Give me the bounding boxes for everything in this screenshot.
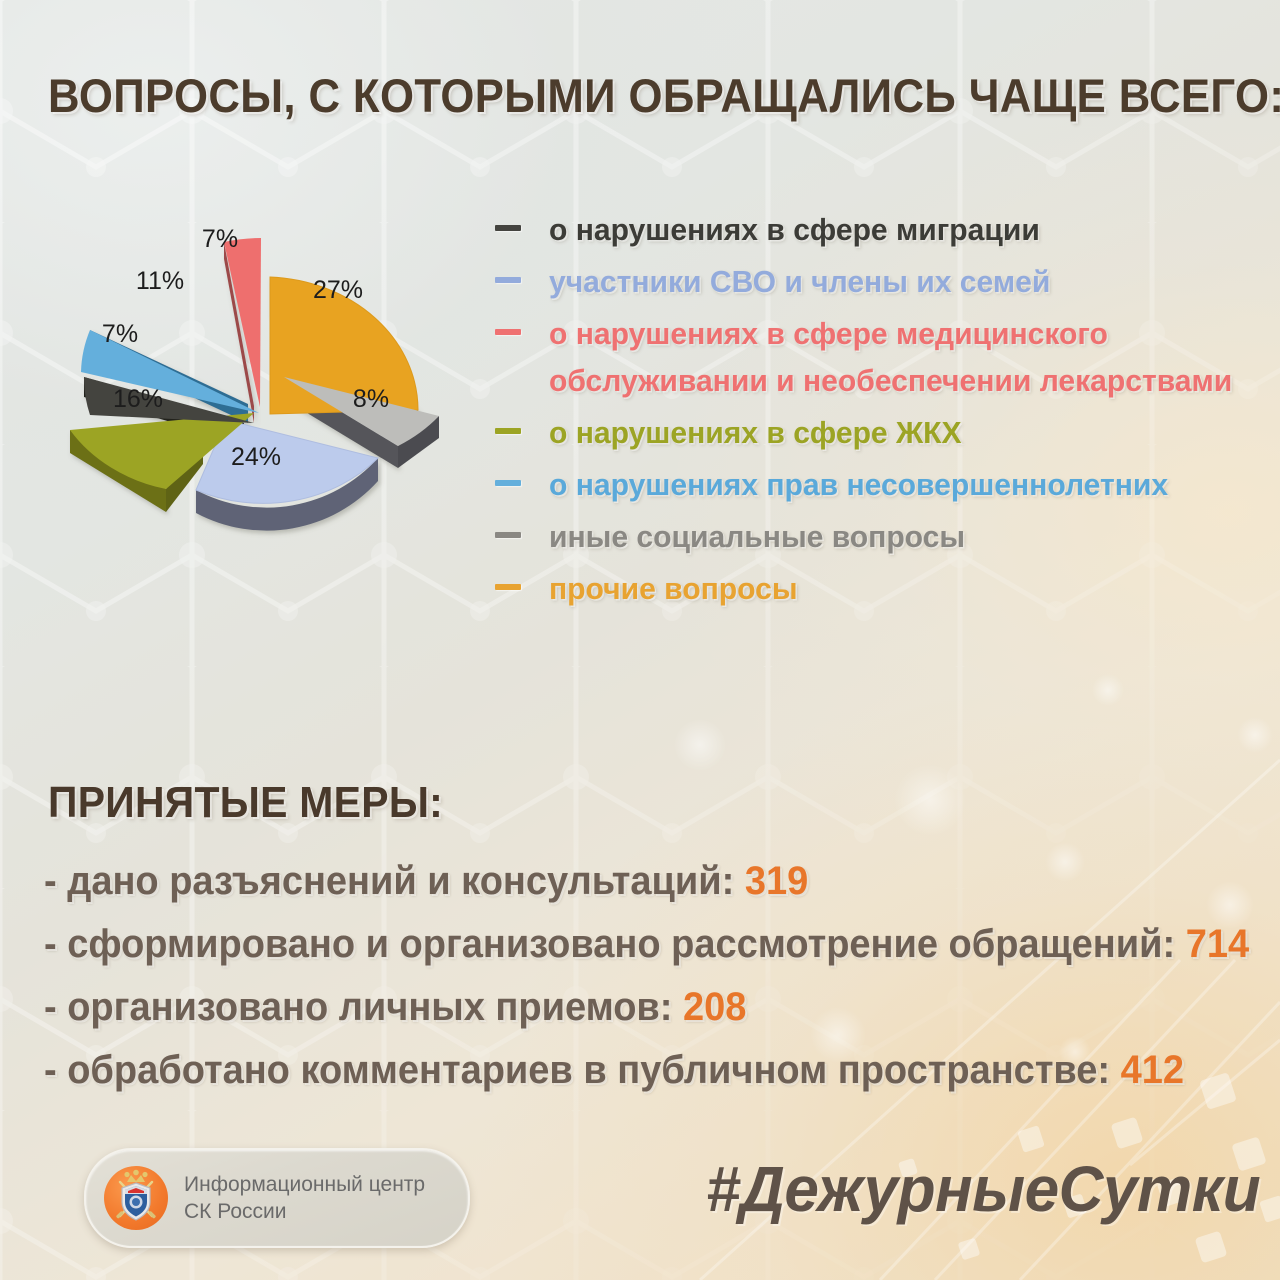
legend-label-minors: о нарушениях прав несовершеннолетних: [549, 461, 1234, 508]
pie-chart: 27% 8% 24% 16% 7% 11% 7%: [48, 185, 478, 575]
measure-row-clarifications: - дано разъяснений и консультаций: 319: [44, 850, 1213, 913]
legend-dash-other: [495, 584, 521, 590]
measure-value-clarifications: 319: [745, 859, 808, 903]
page-title: ВОПРОСЫ, С КОТОРЫМИ ОБРАЩАЛИСЬ ЧАЩЕ ВСЕГ…: [48, 68, 1164, 123]
measure-value-receptions: 208: [683, 985, 746, 1029]
legend-dash-svo: [495, 277, 521, 283]
infographic-poster: ВОПРОСЫ, С КОТОРЫМИ ОБРАЩАЛИСЬ ЧАЩЕ ВСЕГ…: [0, 0, 1280, 1280]
pie-label-7b: 7%: [202, 225, 238, 253]
pie-slice-medical: [224, 238, 261, 407]
measures-list: - дано разъяснений и консультаций: 319 -…: [44, 850, 1274, 1102]
logo-badge[interactable]: Информационный центр СК России: [84, 1148, 470, 1248]
logo-text: Информационный центр СК России: [184, 1171, 425, 1225]
pie-label-16: 16%: [113, 385, 163, 413]
legend-label-zhkh: о нарушениях в сфере ЖКХ: [549, 409, 1234, 456]
measure-row-comments: - обработано комментариев в публичном пр…: [44, 1039, 1213, 1102]
pie-label-24: 24%: [231, 443, 281, 471]
legend-dash-minors: [495, 480, 521, 486]
logo-line-1: Информационный центр: [184, 1171, 425, 1198]
legend-item-other-social[interactable]: иные социальные вопросы: [495, 513, 1255, 560]
logo-line-2: СК России: [184, 1198, 425, 1225]
measure-label-clarifications: - дано разъяснений и консультаций:: [44, 859, 734, 903]
legend-item-medical[interactable]: о нарушениях в сфере медицинского обслуж…: [495, 310, 1255, 404]
legend-item-zhkh[interactable]: о нарушениях в сфере ЖКХ: [495, 409, 1255, 456]
legend-dash-medical: [495, 329, 521, 335]
measure-row-receptions: - организовано личных приемов: 208: [44, 976, 1213, 1039]
measure-value-appeals: 714: [1186, 922, 1249, 966]
chart-legend: о нарушениях в сфере миграции участники …: [495, 206, 1255, 617]
legend-label-medical: о нарушениях в сфере медицинского обслуж…: [549, 310, 1234, 404]
legend-item-svo[interactable]: участники СВО и члены их семей: [495, 258, 1255, 305]
measure-value-comments: 412: [1121, 1048, 1184, 1092]
legend-label-svo: участники СВО и члены их семей: [549, 258, 1234, 305]
legend-label-migration: о нарушениях в сфере миграции: [549, 206, 1234, 253]
legend-dash-zhkh: [495, 428, 521, 434]
pie-label-7a: 7%: [102, 320, 138, 348]
measure-row-appeals: - сформировано и организовано рассмотрен…: [44, 913, 1213, 976]
legend-item-other[interactable]: прочие вопросы: [495, 565, 1255, 612]
sk-rossii-emblem-icon: [104, 1166, 168, 1230]
pie-label-11: 11%: [136, 267, 184, 295]
measure-label-appeals: - сформировано и организовано рассмотрен…: [44, 922, 1175, 966]
legend-dash-other-social: [495, 532, 521, 538]
pie-label-8: 8%: [353, 385, 389, 413]
measure-label-receptions: - организовано личных приемов:: [44, 985, 672, 1029]
legend-dash-migration: [495, 225, 521, 231]
hashtag: #ДежурныеСутки: [706, 1152, 1260, 1226]
legend-label-other-social: иные социальные вопросы: [549, 513, 1234, 560]
legend-item-minors[interactable]: о нарушениях прав несовершеннолетних: [495, 461, 1255, 508]
measure-label-comments: - обработано комментариев в публичном пр…: [44, 1048, 1110, 1092]
legend-item-migration[interactable]: о нарушениях в сфере миграции: [495, 206, 1255, 253]
measures-heading: ПРИНЯТЫЕ МЕРЫ:: [48, 778, 443, 828]
pie-label-27: 27%: [313, 276, 363, 304]
legend-label-other: прочие вопросы: [549, 565, 1234, 612]
